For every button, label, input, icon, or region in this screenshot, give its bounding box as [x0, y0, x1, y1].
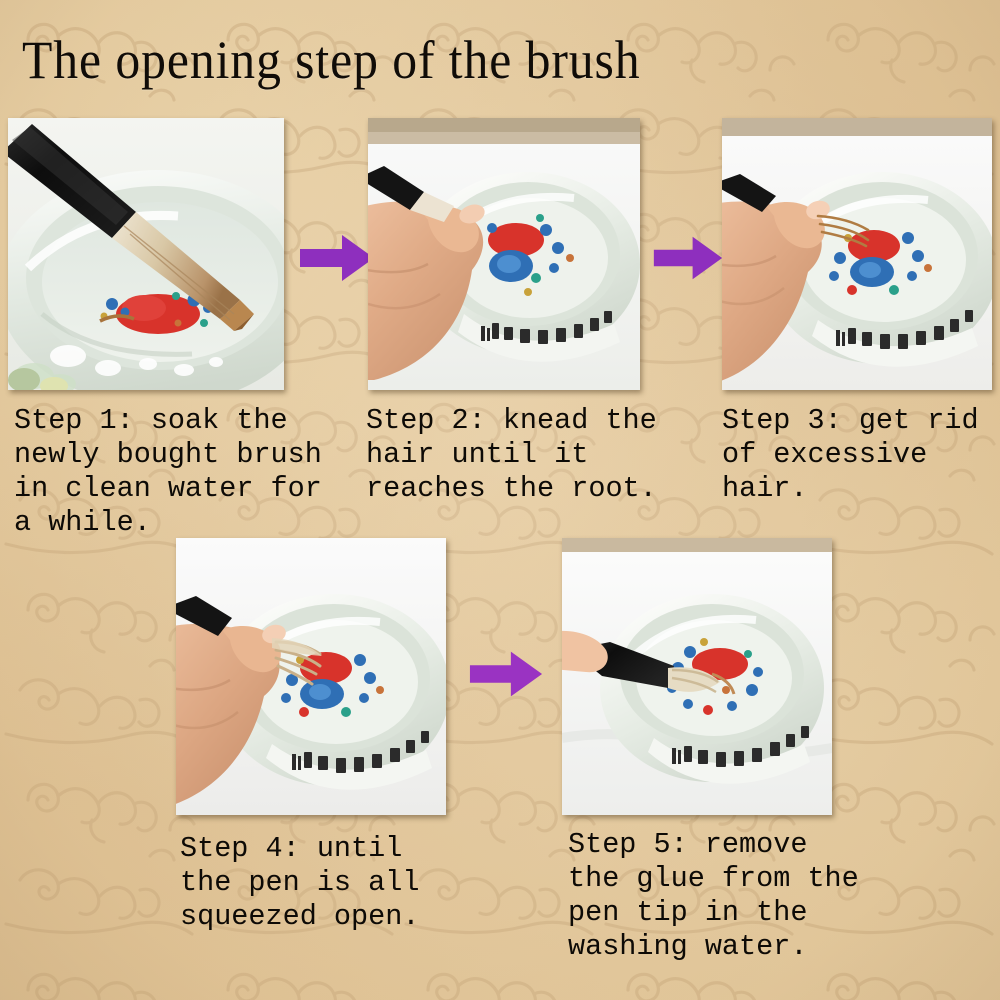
right-arrow-icon: [468, 648, 544, 700]
step-photo-3-image: [722, 118, 992, 390]
step-photo-1-image: [8, 118, 284, 390]
right-arrow-icon: [298, 232, 376, 284]
step-photo-4: [176, 538, 446, 815]
step-photo-1: [8, 118, 284, 390]
page-title: The opening step of the brush: [22, 30, 641, 90]
step-photo-2: [368, 118, 640, 390]
arrow-step2-to-step3: [652, 232, 724, 284]
step-photo-5-image: [562, 538, 832, 815]
step-caption-3: Step 3: get rid of excessive hair.: [722, 404, 1000, 506]
step-photo-2-image: [368, 118, 640, 390]
step-photo-5: [562, 538, 832, 815]
step-photo-4-image: [176, 538, 446, 815]
right-arrow-icon: [652, 232, 724, 284]
step-caption-4: Step 4: until the pen is all squeezed op…: [180, 832, 510, 934]
arrow-step1-to-step2: [298, 232, 376, 284]
step-photo-3: [722, 118, 992, 390]
step-caption-5: Step 5: remove the glue from the pen tip…: [568, 828, 938, 964]
arrow-step4-to-step5: [468, 648, 544, 700]
step-caption-1: Step 1: soak the newly bought brush in c…: [14, 404, 344, 540]
step-caption-2: Step 2: knead the hair until it reaches …: [366, 404, 696, 506]
